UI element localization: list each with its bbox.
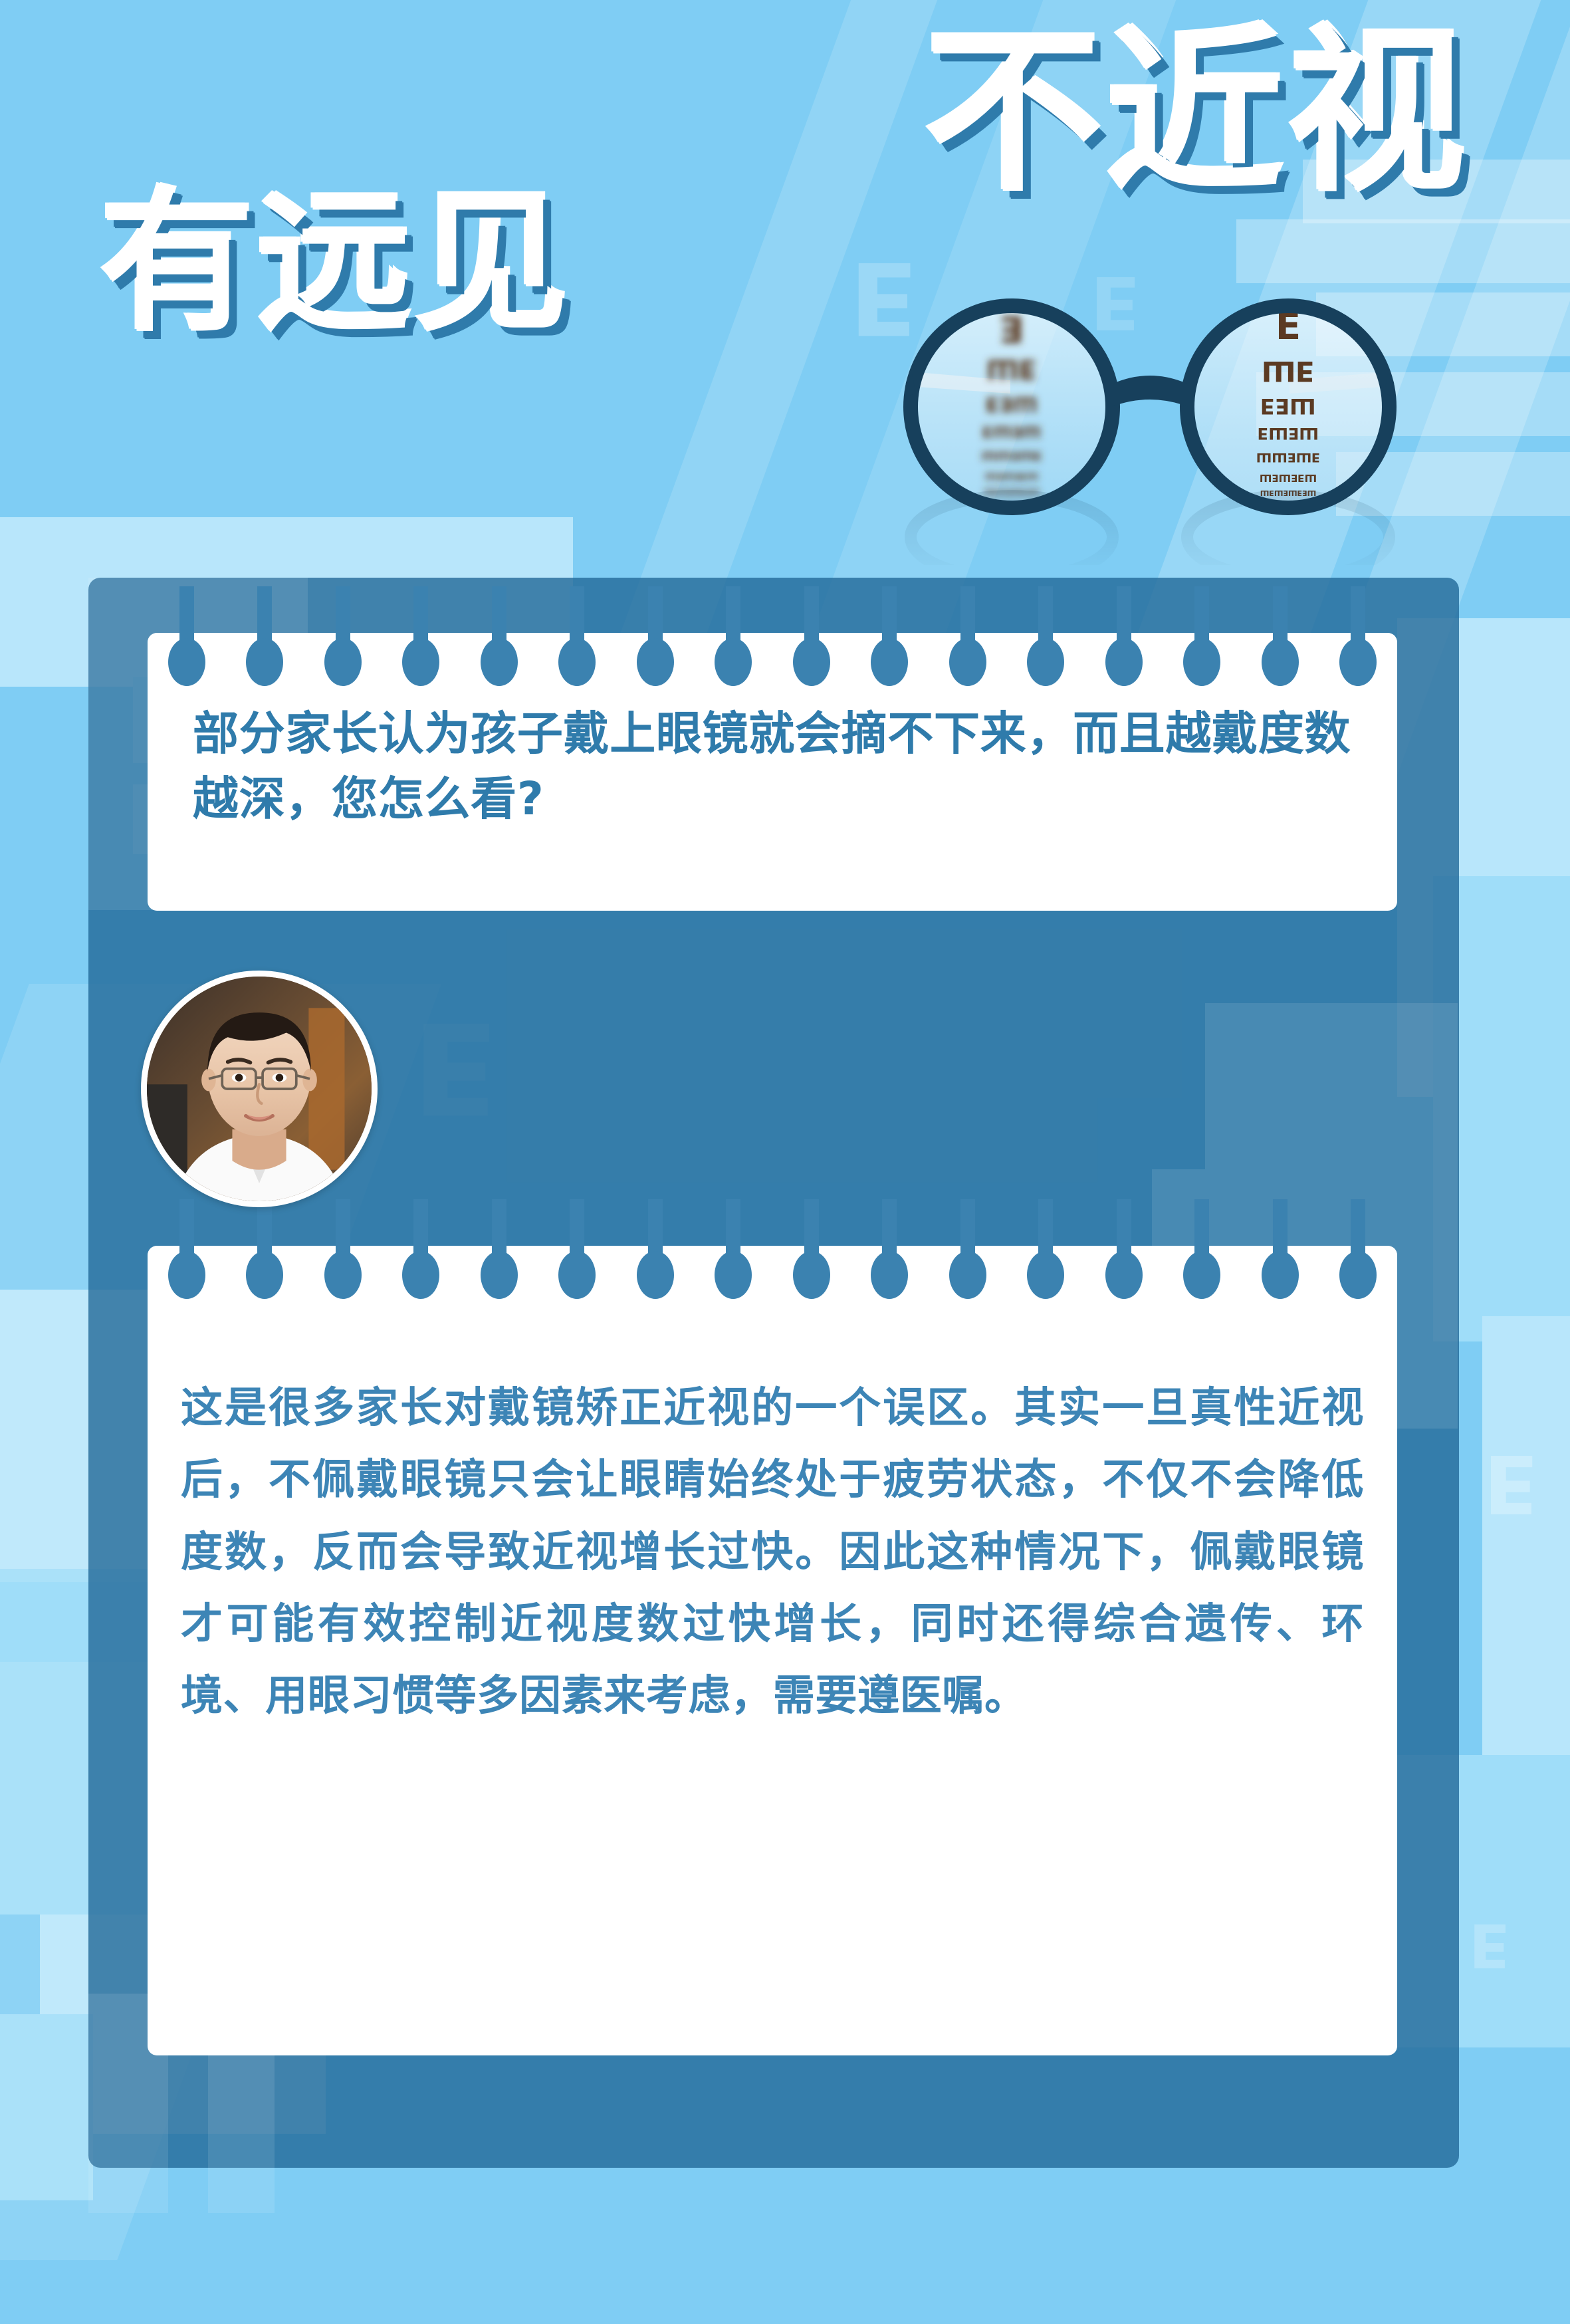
spiral-ring [1163, 586, 1242, 686]
spiral-ring [1007, 586, 1085, 686]
spiral-ring [1241, 586, 1319, 686]
spiral-ring [460, 1199, 538, 1299]
spiral-ring [460, 586, 538, 686]
eye-chart-e-icon: E [1484, 1443, 1538, 1522]
spiral-ring [226, 1199, 304, 1299]
svg-text:ƎШEШШ: ƎШEШШ [981, 449, 1042, 463]
spiral-ring [1241, 1199, 1319, 1299]
spiral-ring [929, 586, 1007, 686]
spiral-ring [1085, 1199, 1163, 1299]
spiral-ring [538, 1199, 617, 1299]
spiral-ring [148, 1199, 226, 1299]
svg-text:ШƎEШEШ: ШƎEШEШ [1260, 472, 1317, 484]
eyeglasses-icon: E ƎШ ШEƎ ШEШƎ ƎШEШШ ШƎEШEШ ШEƎШEШƎШ E ƎШ… [897, 292, 1402, 565]
spiral-ring [616, 586, 695, 686]
spiral-ring [851, 586, 929, 686]
avatar [141, 971, 378, 1207]
spiral-ring [382, 1199, 461, 1299]
question-text: 部分家长认为孩子戴上眼镜就会摘不下来，而且越戴度数越深，您怎么看? [193, 702, 1361, 832]
spiral-ring [1319, 586, 1398, 686]
spiral-ring [1085, 586, 1163, 686]
svg-text:ШEШƎ: ШEШƎ [982, 423, 1041, 440]
spiral-ring [148, 586, 226, 686]
question-card: 部分家长认为孩子戴上眼镜就会摘不下来，而且越戴度数越深，您怎么看? [148, 633, 1397, 911]
svg-text:E: E [1000, 308, 1024, 350]
svg-text:ШEƎ: ШEƎ [986, 392, 1038, 415]
spiral-ring [695, 586, 773, 686]
spiral-ring [304, 1199, 382, 1299]
svg-text:ШEШƎ: ШEШƎ [1258, 424, 1319, 443]
spiral-ring [772, 586, 851, 686]
spiral-ring [226, 586, 304, 686]
spiral-binding [148, 1199, 1397, 1299]
answer-text: 这是很多家长对戴镜矫正近视的一个误区。其实一旦真性近视后，不佩戴眼镜只会让眼睛始… [181, 1372, 1364, 1732]
eye-chart-e-icon: E [1469, 1915, 1510, 1974]
svg-text:ƎШEШШ: ƎШEШШ [1256, 450, 1320, 465]
spiral-ring [382, 586, 461, 686]
spiral-ring [1163, 1199, 1242, 1299]
spiral-ring [929, 1199, 1007, 1299]
panel-bar [1205, 1003, 1458, 1169]
svg-text:ƎШ: ƎШ [986, 354, 1038, 384]
spiral-ring [1007, 1199, 1085, 1299]
spiral-ring [304, 586, 382, 686]
spiral-ring [1319, 1199, 1398, 1299]
spiral-ring [851, 1199, 929, 1299]
answer-card: 这是很多家长对戴镜矫正近视的一个误区。其实一旦真性近视后，不佩戴眼镜只会让眼睛始… [148, 1246, 1397, 2055]
spiral-ring [616, 1199, 695, 1299]
spiral-ring [538, 586, 617, 686]
svg-text:ШEƎ: ШEƎ [1260, 394, 1315, 419]
spiral-binding [148, 586, 1397, 686]
svg-text:ШƎEШEШ: ШƎEШEШ [985, 471, 1039, 481]
spiral-ring [772, 1199, 851, 1299]
svg-text:ƎШ: ƎШ [1262, 355, 1315, 388]
spiral-ring [695, 1199, 773, 1299]
bg-block [1482, 1316, 1570, 1808]
